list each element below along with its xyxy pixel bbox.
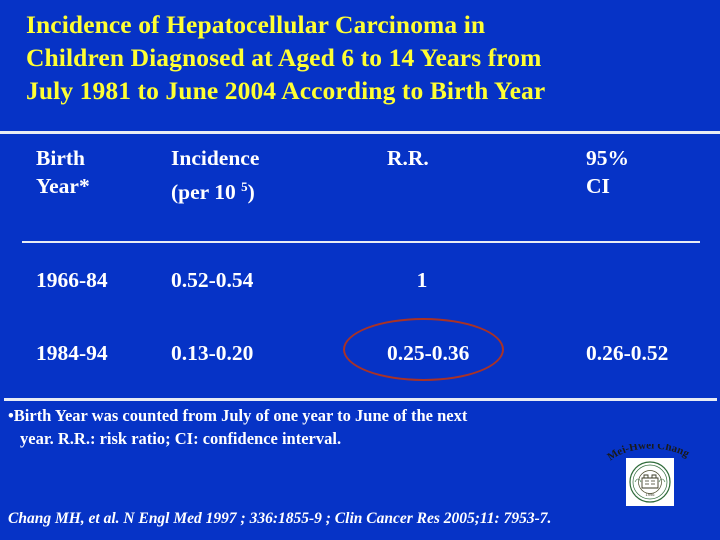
footnote-line-1: •Birth Year was counted from July of one… — [8, 404, 608, 427]
column-header-incidence-line2: (per 10 5) — [171, 173, 255, 206]
footnote: •Birth Year was counted from July of one… — [8, 404, 608, 450]
column-header-incidence-line1: Incidence — [171, 145, 259, 172]
citation-reference: Chang MH, et al. N Engl Med 1997 ; 336:1… — [8, 509, 720, 529]
divider-bottom — [4, 398, 717, 401]
page-title: Incidence of Hepatocellular Carcinoma in… — [26, 8, 698, 107]
title-line-1: Incidence of Hepatocellular Carcinoma in — [26, 8, 698, 41]
table-row-2-birth-year: 1984-94 — [36, 340, 108, 367]
column-header-ci-line1: 95% — [586, 145, 629, 172]
table-row-1-incidence: 0.52-0.54 — [171, 267, 253, 294]
incidence-unit-prefix: (per 10 — [171, 180, 241, 204]
title-line-3: July 1981 to June 2004 According to Birt… — [26, 74, 698, 107]
table-row-2-rr: 0.25-0.36 — [387, 340, 469, 367]
table-row-2-ci: 0.26-0.52 — [586, 340, 668, 367]
title-line-2: Children Diagnosed at Aged 6 to 14 Years… — [26, 41, 698, 74]
table-row-1-rr: 1 — [387, 267, 457, 294]
data-table: Birth Year* Incidence (per 10 5) R.R. 95… — [0, 131, 720, 398]
circular-seal-icon: 1996 — [626, 458, 674, 506]
column-header-birth-year-line1: Birth — [36, 145, 85, 172]
seal-year: 1996 — [646, 492, 656, 497]
table-row-2-incidence: 0.13-0.20 — [171, 340, 253, 367]
footnote-line-2: year. R.R.: risk ratio; CI: confidence i… — [8, 427, 608, 450]
signature-seal: Mei-Hwei Chang 1996 — [604, 444, 698, 506]
column-header-rr: R.R. — [387, 145, 429, 172]
column-header-ci-line2: CI — [586, 173, 610, 200]
incidence-unit-suffix: ) — [248, 180, 255, 204]
slide-canvas: Incidence of Hepatocellular Carcinoma in… — [0, 0, 720, 540]
table-row-1-birth-year: 1966-84 — [36, 267, 108, 294]
divider-header-separator — [22, 241, 700, 243]
column-header-birth-year-line2: Year* — [36, 173, 90, 200]
